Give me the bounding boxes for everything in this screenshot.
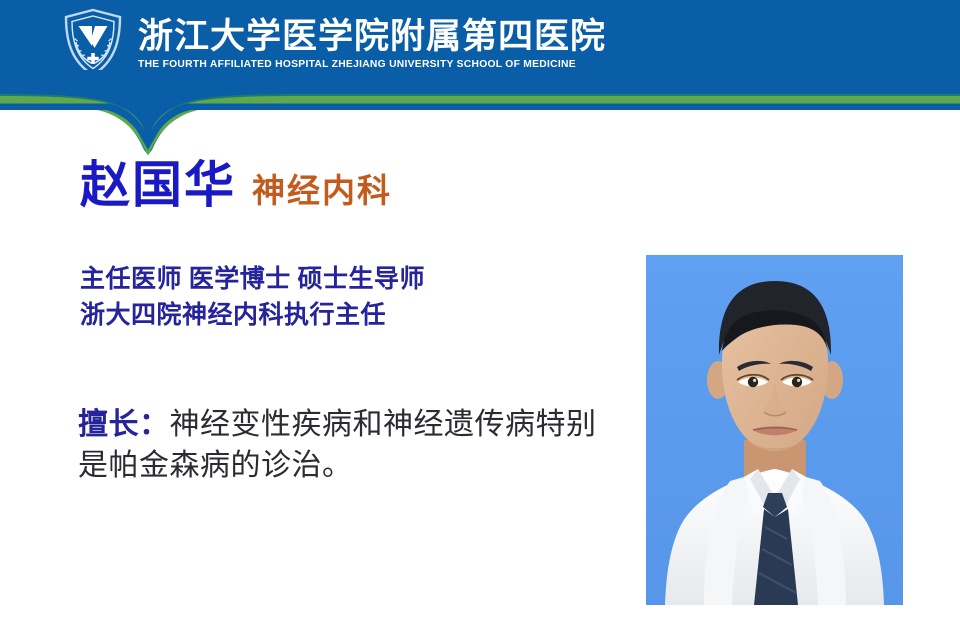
- hospital-wordmark: 浙江大学医学院附属第四医院 THE FOURTH AFFILIATED HOSP…: [138, 15, 606, 72]
- hospital-branding: 浙江大学医学院附属第四医院 THE FOURTH AFFILIATED HOSP…: [62, 8, 606, 78]
- doctor-name: 赵国华: [80, 160, 236, 210]
- credential-line-1: 主任医师 医学博士 硕士生导师: [80, 262, 425, 298]
- credential-line-2: 浙大四院神经内科执行主任: [80, 298, 425, 334]
- credentials-block: 主任医师 医学博士 硕士生导师 浙大四院神经内科执行主任: [80, 262, 425, 333]
- shield-logo-icon: [62, 8, 124, 78]
- doctor-profile-slide: 浙江大学医学院附属第四医院 THE FOURTH AFFILIATED HOSP…: [0, 0, 960, 639]
- specialty-block: 擅长：神经变性疾病和神经遗传病特别是帕金森病的诊治。: [78, 404, 598, 487]
- specialty-label: 擅长：: [78, 408, 170, 441]
- header-swoosh-divider: [0, 70, 960, 155]
- name-heading-row: 赵国华 神经内科: [80, 160, 392, 210]
- department-name: 神经内科: [252, 176, 392, 209]
- doctor-portrait-photo: [646, 255, 903, 605]
- hospital-name-cn: 浙江大学医学院附属第四医院: [138, 17, 606, 56]
